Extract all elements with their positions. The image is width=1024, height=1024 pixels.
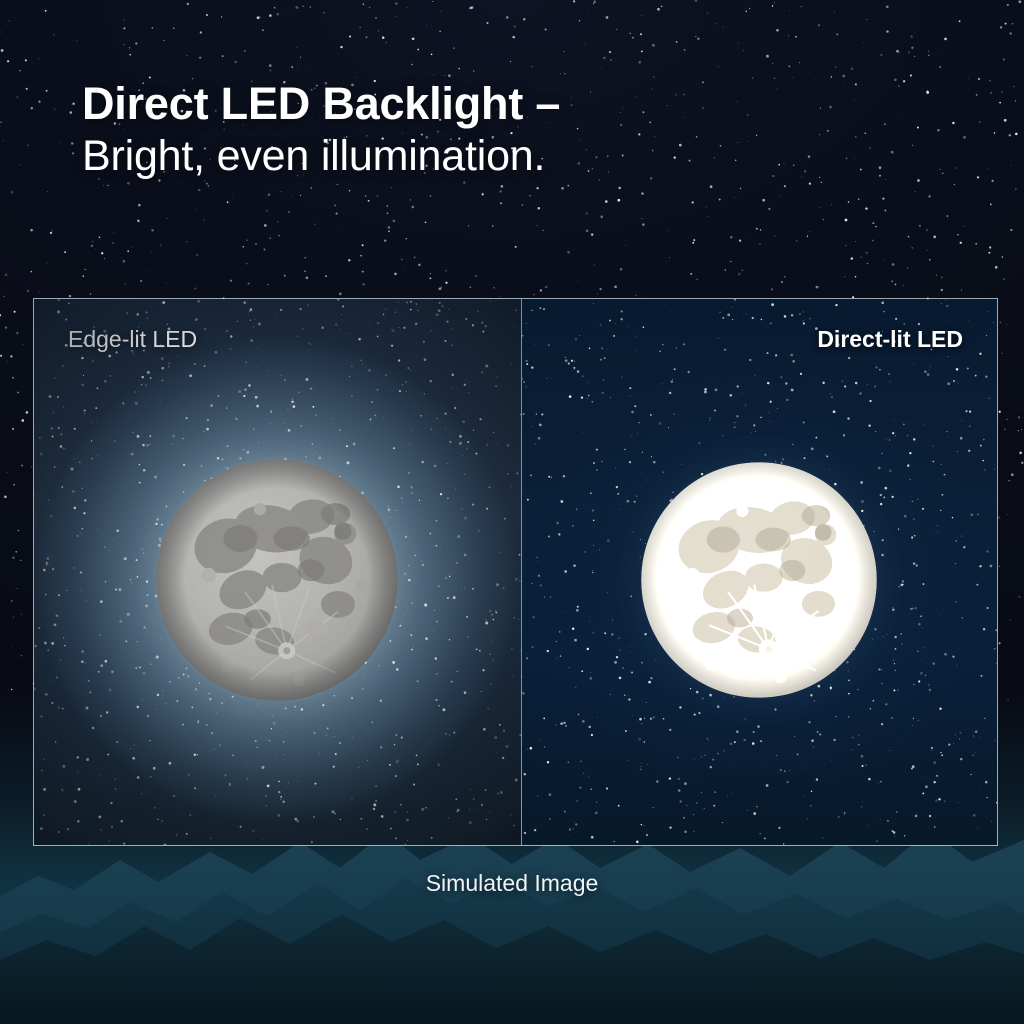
page-title: Direct LED Backlight – Bright, even illu… [82, 78, 802, 181]
label-direct-lit-led: Direct-lit LED [817, 326, 963, 353]
comparison-panels: Edge-lit LED [34, 299, 997, 845]
edge-lit-vignette [34, 299, 521, 845]
panel-direct-lit[interactable]: Direct-lit LED [521, 299, 997, 845]
panel-edge-lit[interactable]: Edge-lit LED [34, 299, 521, 845]
poster-canvas: Direct LED Backlight – Bright, even illu… [0, 0, 1024, 1024]
moon-direct-lit [640, 461, 878, 699]
moon-icon [640, 461, 878, 699]
simulated-image-caption: Simulated Image [0, 870, 1024, 897]
headline-line-1: Direct LED Backlight – [82, 78, 802, 131]
comparison-frame: Edge-lit LED [33, 298, 998, 846]
headline-line-2: Bright, even illumination. [82, 131, 802, 181]
